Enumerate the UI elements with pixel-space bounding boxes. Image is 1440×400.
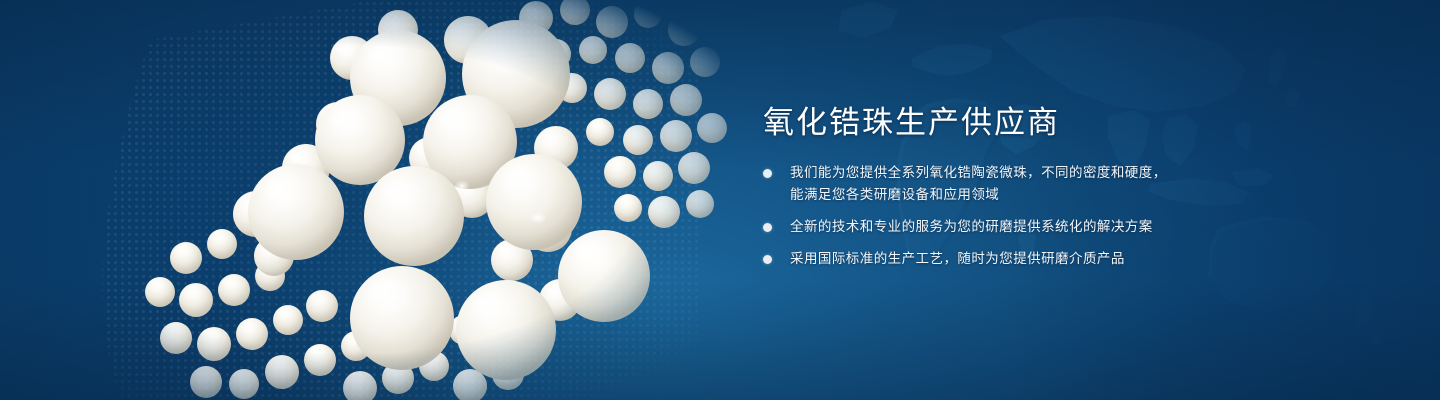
bullet-dot-icon (763, 223, 772, 232)
list-item-line: 我们能为您提供全系列氧化锆陶瓷微珠，不同的密度和硬度， (790, 162, 1323, 184)
list-item: 采用国际标准的生产工艺，随时为您提供研磨介质产品 (763, 248, 1323, 270)
list-item: 全新的技术和专业的服务为您的研磨提供系统化的解决方案 (763, 216, 1323, 238)
feature-list: 我们能为您提供全系列氧化锆陶瓷微珠，不同的密度和硬度， 能满足您各类研磨设备和应… (763, 162, 1323, 270)
bullet-dot-icon (763, 169, 772, 178)
banner-copy: 氧化锆珠生产供应商 我们能为您提供全系列氧化锆陶瓷微珠，不同的密度和硬度， 能满… (763, 103, 1323, 270)
page-title: 氧化锆珠生产供应商 (763, 103, 1323, 143)
bullet-dot-icon (763, 255, 772, 264)
hero-banner: 氧化锆珠生产供应商 我们能为您提供全系列氧化锆陶瓷微珠，不同的密度和硬度， 能满… (0, 0, 1440, 400)
list-item-line: 采用国际标准的生产工艺，随时为您提供研磨介质产品 (790, 248, 1323, 270)
list-item: 我们能为您提供全系列氧化锆陶瓷微珠，不同的密度和硬度， 能满足您各类研磨设备和应… (763, 162, 1323, 206)
zirconia-beads-photo (0, 0, 740, 400)
list-item-line: 全新的技术和专业的服务为您的研磨提供系统化的解决方案 (790, 216, 1323, 238)
list-item-line: 能满足您各类研磨设备和应用领域 (790, 184, 1323, 206)
